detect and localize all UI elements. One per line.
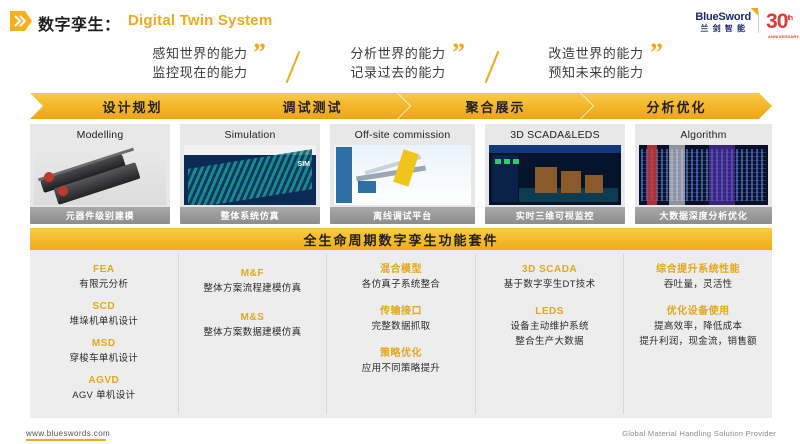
feature-group: AGVD AGV 单机设计 [30, 373, 178, 403]
stage-design-planning[interactable]: 设计规划 [30, 93, 235, 119]
anniversary-badge: 30th ANNIVERSARY [766, 10, 792, 34]
stage-analysis-optimize[interactable]: 分析优化 [581, 93, 772, 119]
card-3d-scada-leds[interactable]: 3D SCADA&LEDS 实时三维可视监控 [485, 124, 625, 224]
feature-heading: 优化设备使用 [624, 304, 772, 319]
feature-heading: 综合提升系统性能 [624, 262, 772, 277]
feature-heading: M&F [179, 266, 327, 281]
capability-card-row: Modelling 元器件级别建模 Simulation SIM 整体系统仿真 … [30, 124, 772, 224]
feature-line: 基于数字孪生DT技术 [476, 277, 624, 292]
feature-group: MSD 穿梭车单机设计 [30, 336, 178, 366]
page-title-en: Digital Twin System [128, 12, 272, 29]
algorithm-thumbnail [639, 145, 768, 205]
feature-line: 应用不同策略提升 [327, 361, 475, 376]
feature-line: 堆垛机单机设计 [30, 314, 178, 329]
feature-heading: SCD [30, 299, 178, 314]
feature-heading: LEDS [476, 304, 624, 319]
feature-heading: 混合模型 [327, 262, 475, 277]
logo-divider [758, 11, 759, 33]
logo-brand-text: BlueSword [695, 12, 751, 23]
card-title: 3D SCADA&LEDS [485, 124, 625, 146]
footer-website[interactable]: www.blueswords.com [26, 429, 110, 438]
feature-group: 优化设备使用 提高效率，降低成本 提升利润，现金流，销售额 [624, 304, 772, 349]
card-caption-bar: 大数据深度分析优化 [635, 207, 772, 224]
feature-columns: FEA 有限元分析 SCD 堆垛机单机设计 MSD 穿梭车单机设计 AGVD A… [30, 254, 772, 414]
card-caption: 离线调试平台 [373, 209, 432, 222]
feature-line: 完整数据抓取 [327, 319, 475, 334]
feature-line: 设备主动维护系统 [476, 319, 624, 334]
card-caption-bar: 离线调试平台 [330, 207, 475, 224]
feature-group: SCD 堆垛机单机设计 [30, 299, 178, 329]
feature-line: AGV 单机设计 [30, 388, 178, 403]
feature-suite-title: 全生命周期数字孪生功能套件 [303, 230, 498, 249]
quote-mark-icon: ” [650, 40, 663, 66]
feature-group: 混合模型 各仿真子系统整合 [327, 262, 475, 292]
anniversary-caption: ANNIVERSARY [768, 34, 799, 39]
card-title: Modelling [30, 124, 170, 146]
feature-heading: FEA [30, 262, 178, 277]
feature-column-design: FEA 有限元分析 SCD 堆垛机单机设计 MSD 穿梭车单机设计 AGVD A… [30, 254, 178, 414]
feature-suite-panel: 全生命周期数字孪生功能套件 FEA 有限元分析 SCD 堆垛机单机设计 MSD … [30, 228, 772, 418]
feature-line: 整合生产大数据 [476, 334, 624, 349]
feature-group: M&F 整体方案流程建模仿真 [179, 266, 327, 296]
feature-group: 传输接口 完整数据抓取 [327, 304, 475, 334]
feature-group: M&S 整体方案数据建模仿真 [179, 310, 327, 340]
quote-mark-icon: ” [452, 40, 465, 66]
card-simulation[interactable]: Simulation SIM 整体系统仿真 [180, 124, 320, 224]
card-caption-bar: 实时三维可视监控 [485, 207, 625, 224]
feature-group: FEA 有限元分析 [30, 262, 178, 292]
card-caption: 大数据深度分析优化 [659, 209, 747, 222]
chevron-right-icon [10, 11, 32, 31]
stage-label: 设计规划 [102, 97, 162, 116]
footer-underline [26, 439, 106, 441]
feature-column-optimization: 综合提升系统性能 吞吐量，灵活性 优化设备使用 提高效率，降低成本 提升利润，现… [623, 254, 772, 414]
feature-heading: 传输接口 [327, 304, 475, 319]
stage-debug-testing[interactable]: 调试测试 [215, 93, 410, 119]
card-title: Algorithm [635, 124, 772, 146]
feature-line: 有限元分析 [30, 277, 178, 292]
footer-tagline: Global Material Handling Solution Provid… [622, 429, 776, 438]
quote-row: 感知世界的能力 监控现在的能力 ” 分析世界的能力 记录过去的能力 ” 改造世界… [0, 44, 800, 90]
feature-group: 综合提升系统性能 吞吐量，灵活性 [624, 262, 772, 292]
modelling-thumbnail [34, 145, 166, 205]
card-title: Off-site commission [330, 124, 475, 146]
feature-line: 穿梭车单机设计 [30, 351, 178, 366]
stage-label: 聚合展示 [465, 97, 525, 116]
slide: 数字孪生： Digital Twin System BlueSword 兰 剑 … [0, 0, 800, 444]
offsite-commission-thumbnail [334, 145, 471, 205]
slide-footer: www.blueswords.com Global Material Handl… [0, 420, 800, 444]
feature-heading: AGVD [30, 373, 178, 388]
logo-accent-icon [750, 8, 758, 16]
simulation-thumbnail: SIM [184, 145, 316, 205]
quote-divider [485, 51, 500, 83]
stage-aggregate-display[interactable]: 聚合展示 [398, 93, 593, 119]
feature-heading: 策略优化 [327, 346, 475, 361]
feature-group: 策略优化 应用不同策略提升 [327, 346, 475, 376]
feature-line: 各仿真子系统整合 [327, 277, 475, 292]
card-offsite-commission[interactable]: Off-site commission 离线调试平台 [330, 124, 475, 224]
feature-line: 整体方案流程建模仿真 [179, 281, 327, 296]
scada-thumbnail [489, 145, 621, 205]
quote-divider [286, 51, 301, 83]
logo-brand-cn: 兰 剑 智 能 [700, 25, 746, 33]
feature-column-scada: 3D SCADA 基于数字孪生DT技术 LEDS 设备主动维护系统 整合生产大数… [475, 254, 624, 414]
logo-bluesword: BlueSword 兰 剑 智 能 [695, 12, 751, 33]
stage-label: 调试测试 [282, 97, 342, 116]
card-algorithm[interactable]: Algorithm 大数据深度分析优化 [635, 124, 772, 224]
feature-group: LEDS 设备主动维护系统 整合生产大数据 [476, 304, 624, 349]
quote-mark-icon: ” [253, 40, 266, 66]
anniversary-suffix: th [787, 15, 792, 22]
feature-column-simulation: M&F 整体方案流程建模仿真 M&S 整体方案数据建模仿真 [178, 254, 327, 414]
card-modelling[interactable]: Modelling 元器件级别建模 [30, 124, 170, 224]
anniversary-number: 30 [766, 10, 787, 33]
feature-column-integration: 混合模型 各仿真子系统整合 传输接口 完整数据抓取 策略优化 应用不同策略提升 [326, 254, 475, 414]
card-caption: 整体系统仿真 [221, 209, 280, 222]
card-caption: 元器件级别建模 [66, 209, 135, 222]
feature-heading: 3D SCADA [476, 262, 624, 277]
stage-label: 分析优化 [646, 97, 706, 116]
card-caption-bar: 元器件级别建模 [30, 207, 170, 224]
slide-header: 数字孪生： Digital Twin System BlueSword 兰 剑 … [0, 0, 800, 42]
card-caption: 实时三维可视监控 [516, 209, 594, 222]
feature-line: 提高效率，降低成本 [624, 319, 772, 334]
feature-line: 整体方案数据建模仿真 [179, 325, 327, 340]
feature-group: 3D SCADA 基于数字孪生DT技术 [476, 262, 624, 292]
process-stage-bar: 设计规划 调试测试 聚合展示 分析优化 [30, 93, 772, 119]
feature-line: 吞吐量，灵活性 [624, 277, 772, 292]
page-title-cn: 数字孪生： [38, 11, 121, 35]
company-logo: BlueSword 兰 剑 智 能 30th ANNIVERSARY [695, 6, 792, 38]
feature-line: 提升利润，现金流，销售额 [624, 334, 772, 349]
feature-heading: M&S [179, 310, 327, 325]
card-title: Simulation [180, 124, 320, 146]
feature-suite-title-bar: 全生命周期数字孪生功能套件 [30, 228, 772, 250]
feature-heading: MSD [30, 336, 178, 351]
card-caption-bar: 整体系统仿真 [180, 207, 320, 224]
